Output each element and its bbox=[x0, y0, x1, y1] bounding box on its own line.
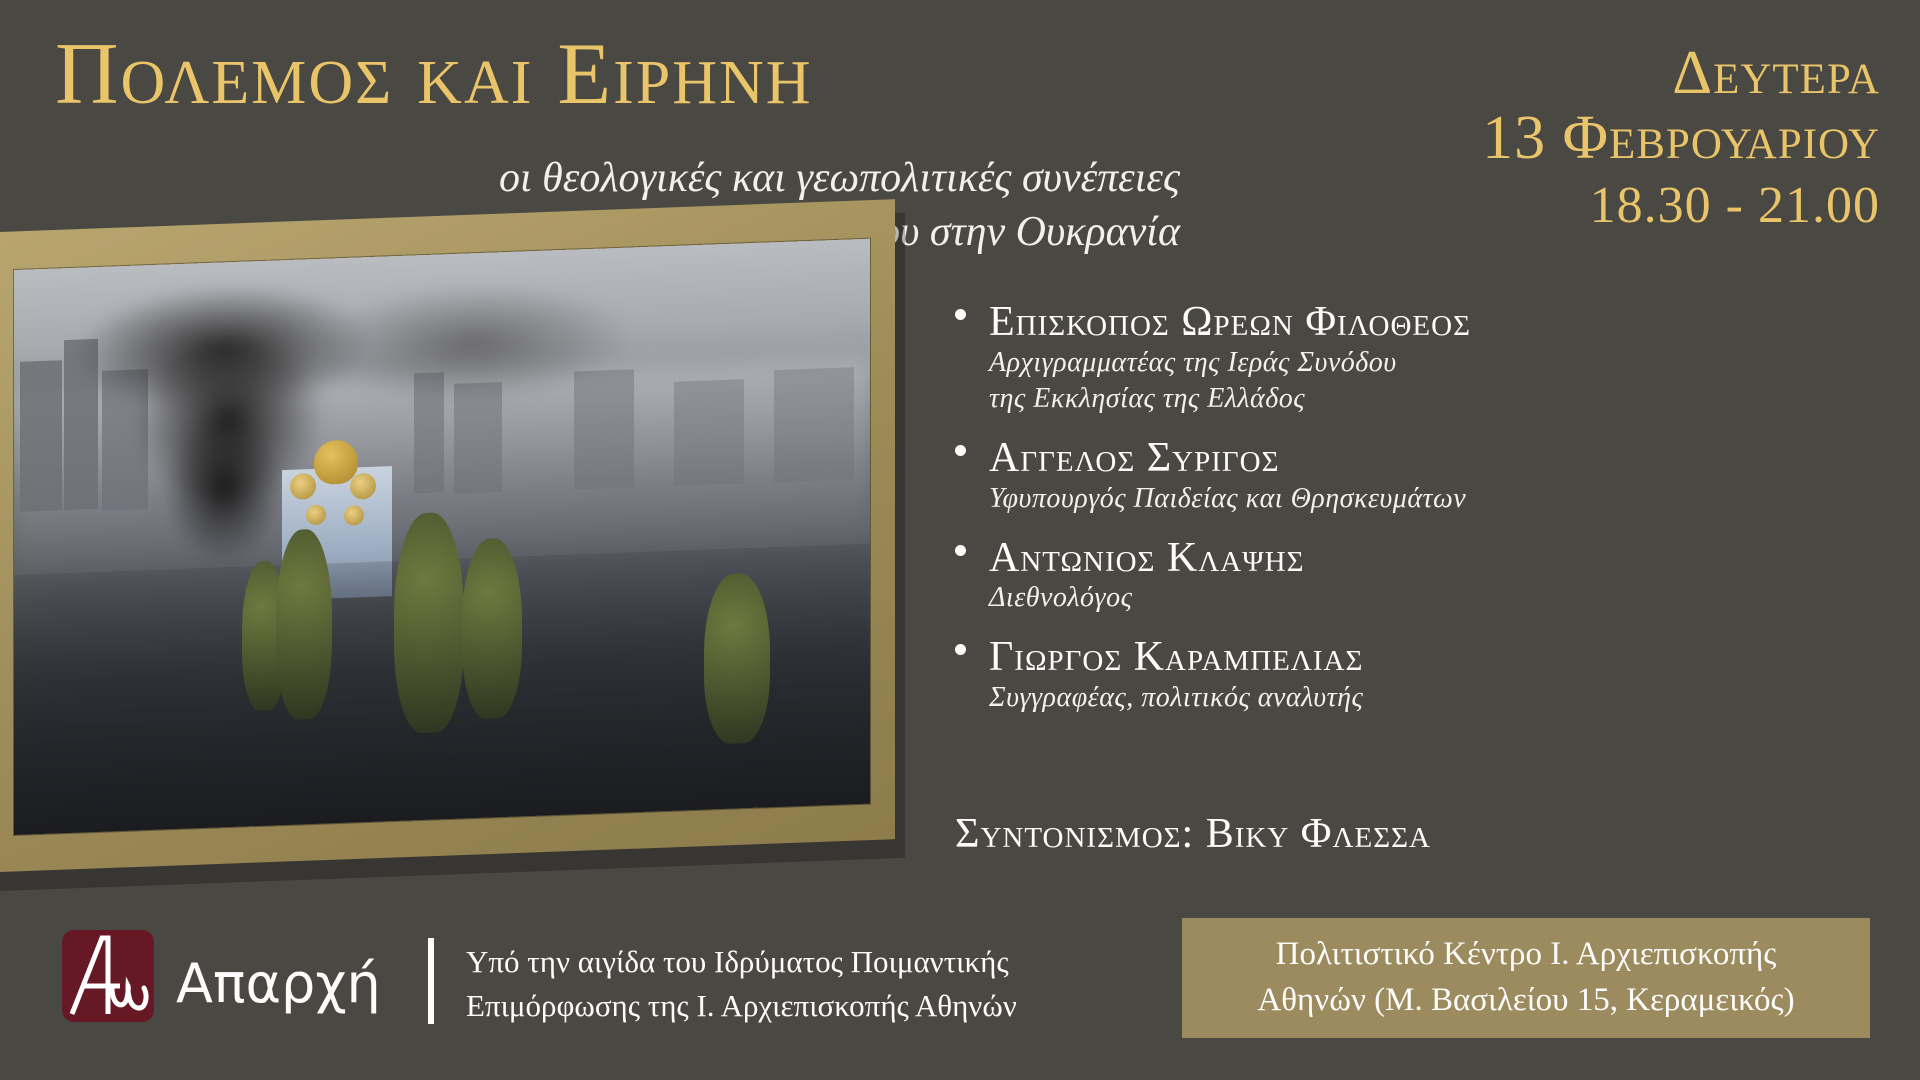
event-date: 13 Φεβρουαριου bbox=[1180, 104, 1880, 173]
venue-line-2: Αθηνών (Μ. Βασιλείου 15, Κεραμεικός) bbox=[1257, 978, 1794, 1024]
event-day: Δευτερα bbox=[1180, 42, 1880, 104]
tree bbox=[394, 511, 464, 734]
brand-name: Απαρχή bbox=[176, 952, 381, 1015]
speaker-role-line: Συγγραφέας, πολιτικός αναλυτής bbox=[989, 680, 1885, 717]
speaker-item: Επισκοπος Ωρεων Φιλοθεος Αρχιγραμματέας … bbox=[955, 300, 1885, 418]
skyline-building bbox=[674, 379, 744, 486]
venue-box: Πολιτιστικό Κέντρο Ι. Αρχιεπισκοπής Αθην… bbox=[1182, 918, 1870, 1038]
speaker-name: Επισκοπος Ωρεων Φιλοθεος bbox=[989, 300, 1885, 345]
footer-divider bbox=[428, 938, 434, 1024]
skyline-building bbox=[574, 369, 634, 489]
skyline-building bbox=[20, 360, 62, 512]
skyline-building bbox=[774, 367, 854, 482]
speaker-name: Γιωργος Καραμπελιας bbox=[989, 635, 1885, 680]
speaker-item: Αγγελος Συριγος Υφυπουργός Παιδείας και … bbox=[955, 436, 1885, 517]
auspices-text: Υπό την αιγίδα του Ιδρύματος Ποιμαντικής… bbox=[466, 940, 1126, 1028]
tree bbox=[704, 572, 770, 744]
aparchi-logo-icon bbox=[62, 930, 154, 1022]
bullet-icon bbox=[955, 545, 966, 556]
speaker-role-line: Υφυπουργός Παιδείας και Θρησκευμάτων bbox=[989, 481, 1885, 518]
bullet-icon bbox=[955, 445, 966, 456]
tree bbox=[276, 528, 332, 720]
speaker-item: Γιωργος Καραμπελιας Συγγραφέας, πολιτικό… bbox=[955, 635, 1885, 716]
auspices-line-2: Επιμόρφωσης της Ι. Αρχιεπισκοπής Αθηνών bbox=[466, 984, 1126, 1028]
auspices-line-1: Υπό την αιγίδα του Ιδρύματος Ποιμαντικής bbox=[466, 940, 1126, 984]
tree bbox=[462, 537, 522, 719]
photo-image bbox=[14, 239, 870, 835]
photo-block bbox=[0, 232, 910, 902]
speaker-item: Αντωνιος Κλαψης Διεθνολόγος bbox=[955, 536, 1885, 617]
bullet-icon bbox=[955, 309, 966, 320]
speaker-role-line: της Εκκλησίας της Ελλάδος bbox=[989, 381, 1885, 418]
moderator-line: Συντονισμος: Βικυ Φλεσσα bbox=[955, 810, 1431, 858]
speakers-list: Επισκοπος Ωρεων Φιλοθεος Αρχιγραμματέας … bbox=[955, 300, 1885, 735]
speaker-name: Αγγελος Συριγος bbox=[989, 436, 1885, 481]
bullet-icon bbox=[955, 644, 966, 655]
speaker-role-line: Αρχιγραμματέας της Ιεράς Συνόδου bbox=[989, 345, 1885, 382]
speaker-name: Αντωνιος Κλαψης bbox=[989, 536, 1885, 581]
date-block: Δευτερα 13 Φεβρουαριου 18.30 - 21.00 bbox=[1180, 42, 1880, 238]
event-poster: Πολεμος και Ειρηνη οι θεολογικές και γεω… bbox=[0, 0, 1920, 1080]
speaker-role-line: Διεθνολόγος bbox=[989, 580, 1885, 617]
subtitle-line-1: οι θεολογικές και γεωπολιτικές συνέπειες bbox=[120, 152, 1180, 206]
event-time: 18.30 - 21.00 bbox=[1180, 173, 1880, 238]
page-title: Πολεμος και Ειρηνη bbox=[55, 30, 1185, 120]
venue-text: Πολιτιστικό Κέντρο Ι. Αρχιεπισκοπής Αθην… bbox=[1239, 932, 1812, 1023]
city-photo bbox=[14, 239, 870, 835]
venue-line-1: Πολιτιστικό Κέντρο Ι. Αρχιεπισκοπής bbox=[1257, 932, 1794, 978]
